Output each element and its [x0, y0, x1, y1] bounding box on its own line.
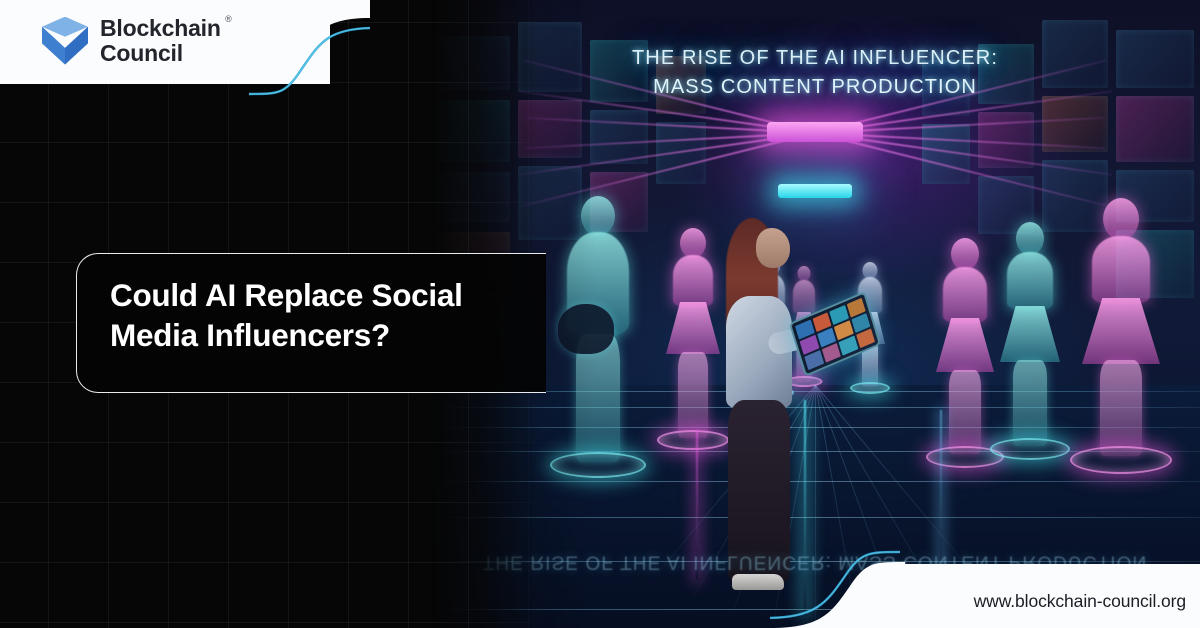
central-node-glow — [767, 122, 863, 142]
woman-face — [756, 228, 790, 268]
artwork-headline-line1: THE RISE OF THE AI INFLUENCER: — [632, 47, 998, 69]
artwork-headline-line2: MASS CONTENT PRODUCTION — [430, 73, 1200, 102]
social-share-banner: THE RISE OF THE AI INFLUENCER: MASS CONT… — [0, 0, 1200, 628]
logo-panel-curve — [245, 0, 370, 128]
website-panel-curve — [770, 528, 905, 628]
brand-name-line1: Blockchain — [100, 16, 221, 41]
page-title: Could AI Replace Social Media Influencer… — [110, 275, 540, 356]
hologram-cyan-figure-right — [990, 222, 1070, 488]
cube-icon — [42, 17, 88, 65]
hologram-pink-influencer-main — [1070, 198, 1172, 498]
website-url[interactable]: www.blockchain-council.org — [974, 591, 1186, 612]
hologram-pink-figure-left — [658, 228, 728, 480]
artwork-headline: THE RISE OF THE AI INFLUENCER: MASS CONT… — [430, 44, 1200, 102]
brand-logo[interactable]: Blockchain Council ® — [42, 16, 221, 65]
secondary-node-glow — [778, 184, 852, 198]
hologram-guitarist — [550, 196, 646, 496]
brand-name-line2: Council — [100, 41, 221, 66]
registered-mark: ® — [225, 14, 232, 24]
brand-name: Blockchain Council ® — [100, 16, 221, 65]
